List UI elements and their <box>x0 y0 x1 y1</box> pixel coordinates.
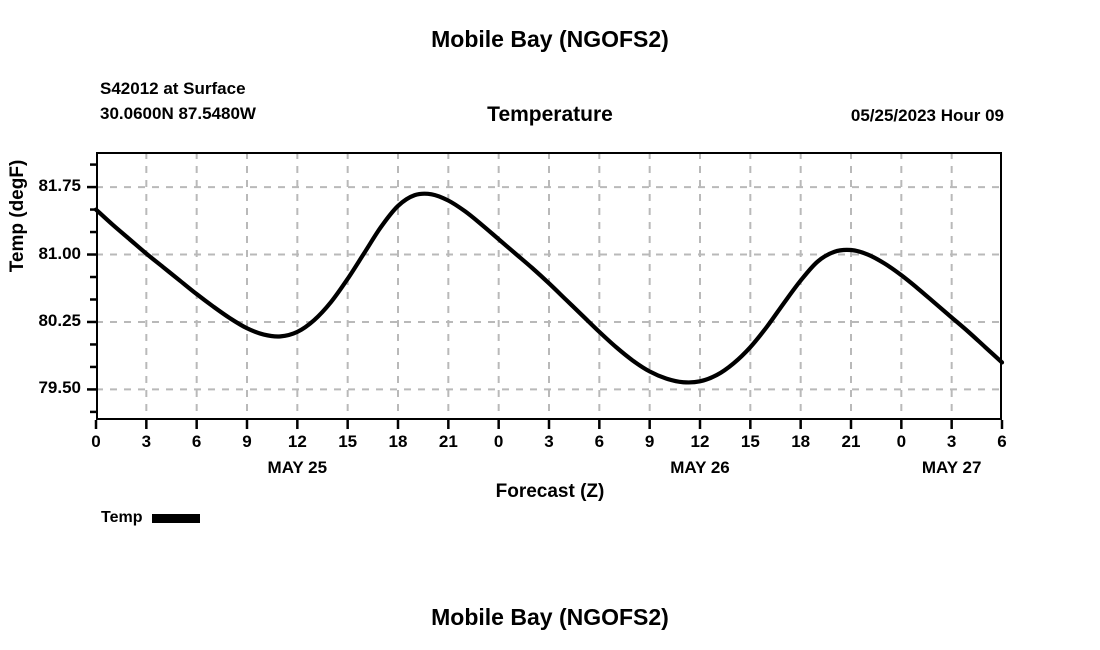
x-tick-label: 3 <box>126 432 166 452</box>
y-tick-label: 80.25 <box>11 311 81 331</box>
y-axis-title: Temp (degF) <box>7 116 29 316</box>
x-axis-title: Forecast (Z) <box>0 481 1100 503</box>
plot-area: Temp (degF) 81.7581.0080.2579.50 0369121… <box>0 0 1100 650</box>
legend-label-temp: Temp <box>101 509 142 527</box>
page-title-bottom: Mobile Bay (NGOFS2) <box>0 604 1100 631</box>
y-tick-label: 79.50 <box>11 378 81 398</box>
x-tick-label: 6 <box>579 432 619 452</box>
x-tick-label: 3 <box>529 432 569 452</box>
chart-legend: Temp <box>101 509 200 527</box>
x-tick-label: 21 <box>831 432 871 452</box>
y-tick-label: 81.00 <box>11 244 81 264</box>
x-tick-label: 9 <box>630 432 670 452</box>
x-tick-label: 0 <box>76 432 116 452</box>
x-tick-label: 9 <box>227 432 267 452</box>
axis-frame <box>96 152 1002 420</box>
chart-page: Mobile Bay (NGOFS2) S42012 at Surface 30… <box>0 0 1100 650</box>
x-tick-label: 6 <box>177 432 217 452</box>
x-tick-label: 12 <box>277 432 317 452</box>
x-day-label: MAY 27 <box>882 458 1022 478</box>
x-tick-label: 18 <box>378 432 418 452</box>
x-tick-label: 15 <box>730 432 770 452</box>
x-tick-label: 3 <box>932 432 972 452</box>
x-day-label: MAY 26 <box>630 458 770 478</box>
x-day-label: MAY 25 <box>227 458 367 478</box>
x-tick-label: 18 <box>781 432 821 452</box>
x-tick-label: 0 <box>479 432 519 452</box>
x-tick-label: 0 <box>881 432 921 452</box>
x-tick-label: 21 <box>428 432 468 452</box>
x-tick-label: 12 <box>680 432 720 452</box>
x-tick-label: 15 <box>328 432 368 452</box>
legend-swatch-temp <box>152 514 200 523</box>
y-tick-label: 81.75 <box>11 176 81 196</box>
x-tick-label: 6 <box>982 432 1022 452</box>
